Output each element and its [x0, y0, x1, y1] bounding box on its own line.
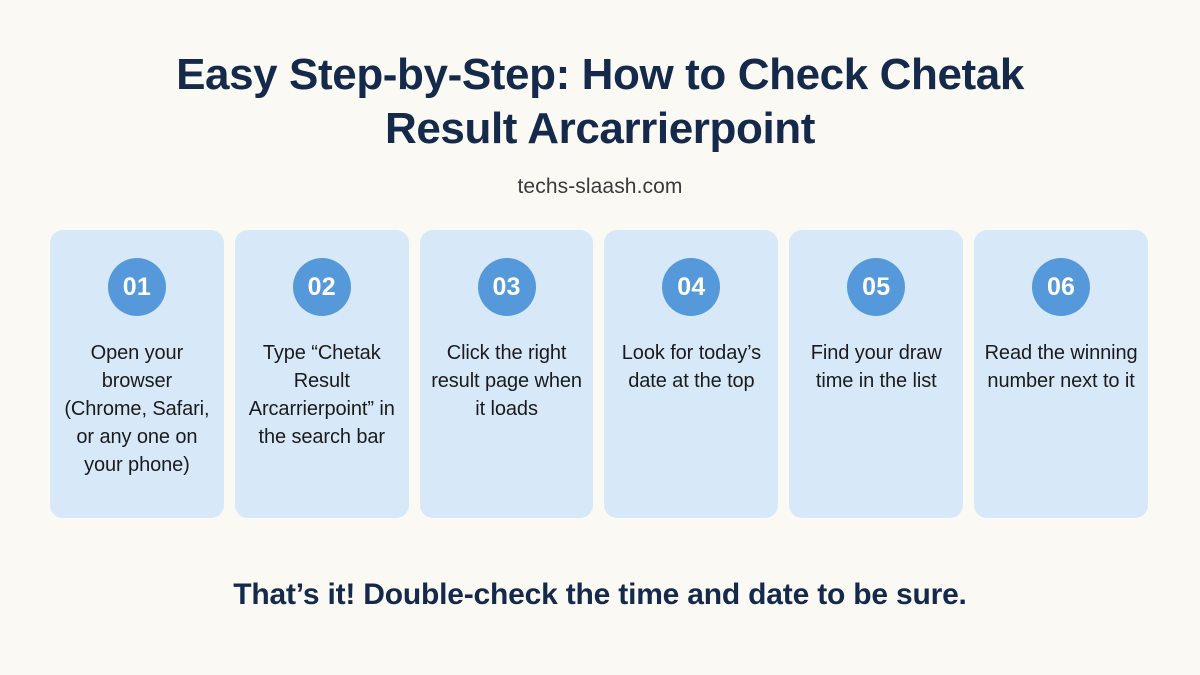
footer: That’s it! Double-check the time and dat…: [0, 575, 1200, 615]
steps-list: 01 Open your browser (Chrome, Safari, or…: [50, 230, 1148, 518]
site-attribution: techs-slaash.com: [0, 174, 1200, 200]
step-description: Look for today’s date at the top: [614, 339, 768, 395]
header: Easy Step-by-Step: How to Check Chetak R…: [0, 48, 1200, 200]
step-card-02: 02 Type “Chetak Result Arcarrierpoint” i…: [235, 230, 409, 518]
step-description: Type “Chetak Result Arcarrierpoint” in t…: [245, 339, 399, 451]
step-card-06: 06 Read the winning number next to it: [974, 230, 1148, 518]
step-card-05: 05 Find your draw time in the list: [789, 230, 963, 518]
step-number-badge: 05: [847, 258, 905, 316]
step-number-badge: 01: [108, 258, 166, 316]
step-number-badge: 04: [662, 258, 720, 316]
step-description: Open your browser (Chrome, Safari, or an…: [60, 339, 214, 479]
step-card-03: 03 Click the right result page when it l…: [420, 230, 594, 518]
step-description: Find your draw time in the list: [799, 339, 953, 395]
page-title: Easy Step-by-Step: How to Check Chetak R…: [0, 48, 1200, 156]
step-description: Read the winning number next to it: [984, 339, 1138, 395]
step-number-badge: 03: [478, 258, 536, 316]
step-card-01: 01 Open your browser (Chrome, Safari, or…: [50, 230, 224, 518]
step-description: Click the right result page when it load…: [430, 339, 584, 423]
infographic-page: Easy Step-by-Step: How to Check Chetak R…: [0, 0, 1200, 675]
step-card-04: 04 Look for today’s date at the top: [604, 230, 778, 518]
step-number-badge: 02: [293, 258, 351, 316]
closing-note: That’s it! Double-check the time and dat…: [0, 575, 1200, 615]
step-number-badge: 06: [1032, 258, 1090, 316]
